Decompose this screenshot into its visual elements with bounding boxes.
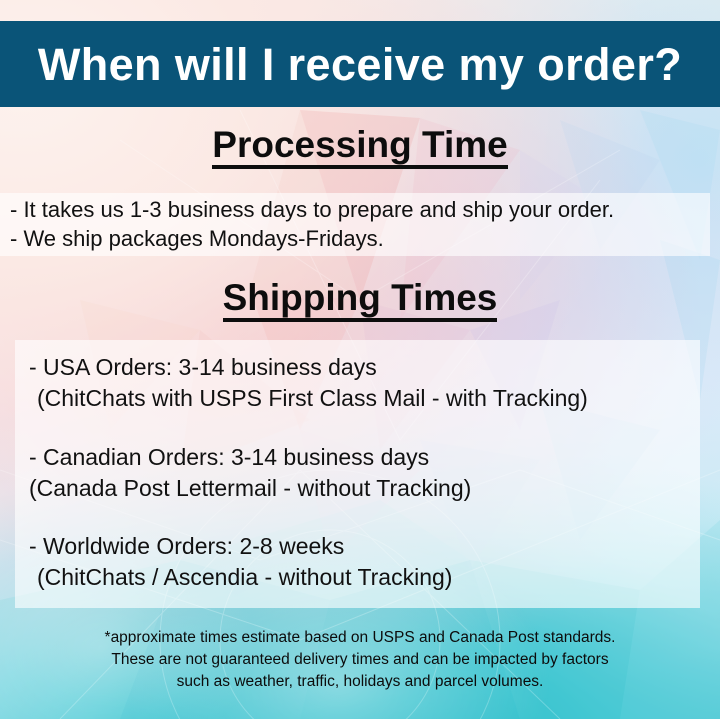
shipping-main-line: - Worldwide Orders: 2-8 weeks (29, 531, 700, 562)
infographic-poster: When will I receive my order? Processing… (0, 0, 720, 719)
shipping-sub-line: (ChitChats with USPS First Class Mail - … (29, 383, 700, 414)
processing-time-list: - It takes us 1-3 business days to prepa… (0, 193, 710, 256)
footnote-line: *approximate times estimate based on USP… (30, 627, 690, 649)
shipping-main-line: - USA Orders: 3-14 business days (29, 352, 700, 383)
header-bar: When will I receive my order? (0, 21, 720, 107)
disclaimer-footnote: *approximate times estimate based on USP… (30, 627, 690, 693)
shipping-sub-line: (Canada Post Lettermail - without Tracki… (29, 473, 700, 504)
shipping-sub-line: (ChitChats / Ascendia - without Tracking… (29, 562, 700, 593)
footnote-line: such as weather, traffic, holidays and p… (30, 671, 690, 693)
shipping-block-usa: - USA Orders: 3-14 business days (ChitCh… (15, 352, 700, 415)
shipping-block-worldwide: - Worldwide Orders: 2-8 weeks (ChitChats… (15, 531, 700, 594)
list-item: - It takes us 1-3 business days to prepa… (10, 195, 710, 224)
page-title: When will I receive my order? (38, 42, 682, 87)
shipping-block-canada: - Canadian Orders: 3-14 business days (C… (15, 442, 700, 505)
shipping-times-heading: Shipping Times (0, 279, 720, 322)
processing-time-heading-text: Processing Time (212, 126, 507, 169)
shipping-main-line: - Canadian Orders: 3-14 business days (29, 442, 700, 473)
poster-content: Processing Time - It takes us 1-3 busine… (0, 107, 720, 693)
footnote-line: These are not guaranteed delivery times … (30, 649, 690, 671)
shipping-times-heading-text: Shipping Times (223, 279, 498, 322)
processing-time-heading: Processing Time (0, 126, 720, 169)
list-item: - We ship packages Mondays-Fridays. (10, 224, 710, 253)
shipping-times-panel: - USA Orders: 3-14 business days (ChitCh… (15, 340, 700, 608)
